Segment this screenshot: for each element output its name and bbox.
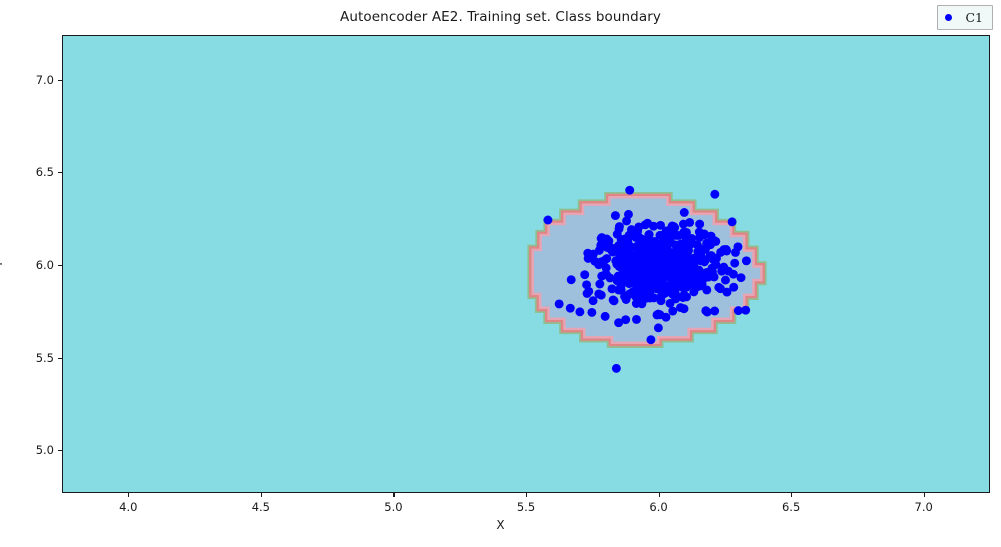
scatter-point	[664, 239, 673, 248]
x-tick-mark	[128, 493, 129, 497]
scatter-point	[555, 300, 564, 309]
legend[interactable]: C1	[937, 5, 993, 30]
scatter-point	[621, 315, 630, 324]
plot-area	[62, 35, 990, 493]
scatter-point	[580, 270, 589, 279]
scatter-point	[696, 250, 705, 259]
scatter-point	[722, 245, 731, 254]
scatter-point	[567, 275, 576, 284]
scatter-point	[636, 244, 645, 253]
scatter-point	[686, 279, 695, 288]
scatter-point	[669, 277, 678, 286]
legend-label-c1: C1	[965, 10, 983, 25]
x-tick-label: 5.5	[506, 500, 546, 514]
scatter-point	[617, 241, 626, 250]
scatter-point	[625, 186, 634, 195]
x-tick-mark	[393, 493, 394, 497]
scatter-point	[722, 288, 731, 297]
scatter-point	[635, 261, 644, 270]
x-axis-label: X	[0, 518, 1001, 532]
scatter-point	[669, 222, 678, 231]
scatter-point	[742, 256, 751, 265]
scatter-point	[737, 273, 746, 282]
scatter-point	[697, 271, 706, 280]
scatter-point	[625, 290, 634, 299]
scatter-point	[702, 285, 711, 294]
scatter-point	[730, 259, 739, 268]
y-tick-label: 7.0	[20, 73, 54, 87]
scatter-point	[595, 280, 604, 289]
scatter-point	[701, 306, 710, 315]
legend-marker-c1-icon	[945, 14, 952, 21]
x-tick-label: 4.5	[241, 500, 281, 514]
scatter-point	[603, 243, 612, 252]
x-tick-label: 4.0	[108, 500, 148, 514]
scatter-point	[601, 312, 610, 321]
scatter-point	[612, 364, 621, 373]
scatter-point	[658, 276, 667, 285]
figure-canvas: Autoencoder AE2. Training set. Class bou…	[0, 0, 1001, 547]
scatter-point	[617, 259, 626, 268]
scatter-point	[680, 290, 689, 299]
scatter-point	[686, 240, 695, 249]
scatter-point	[630, 273, 639, 282]
scatter-point	[721, 276, 730, 285]
scatter-point	[611, 211, 620, 220]
scatter-point	[590, 257, 599, 266]
scatter-point	[583, 249, 592, 258]
scatter-point	[653, 310, 662, 319]
scatter-point	[712, 254, 721, 263]
scatter-point	[671, 255, 680, 264]
x-tick-label: 6.0	[639, 500, 679, 514]
x-tick-label: 6.5	[771, 500, 811, 514]
scatter-point	[714, 283, 723, 292]
scatter-point	[650, 248, 659, 257]
scatter-point	[695, 233, 704, 242]
scatter-point	[621, 273, 630, 282]
scatter-point	[662, 313, 671, 322]
y-tick-label: 5.0	[20, 443, 54, 457]
scatter-point	[711, 237, 720, 246]
scatter-point	[733, 242, 742, 251]
x-tick-label: 5.0	[373, 500, 413, 514]
scatter-point	[666, 299, 675, 308]
scatter-point	[668, 307, 677, 316]
scatter-point	[641, 220, 650, 229]
scatter-point	[622, 216, 631, 225]
scatter-point	[682, 232, 691, 241]
y-tick-label: 5.5	[20, 351, 54, 365]
plot-svg	[63, 36, 989, 492]
scatter-point	[689, 287, 698, 296]
x-tick-mark	[261, 493, 262, 497]
scatter-point	[646, 335, 655, 344]
scatter-point	[610, 296, 619, 305]
scatter-point	[654, 323, 663, 332]
scatter-point	[645, 230, 654, 239]
scatter-point	[587, 308, 596, 317]
scatter-point	[633, 226, 642, 235]
scatter-point	[543, 216, 552, 225]
scatter-point	[710, 272, 719, 281]
scatter-point	[724, 267, 733, 276]
scatter-point	[575, 307, 584, 316]
scatter-point	[643, 256, 652, 265]
scatter-point	[680, 304, 689, 313]
scatter-point	[661, 229, 670, 238]
scatter-point	[589, 296, 598, 305]
scatter-point	[690, 266, 699, 275]
scatter-point	[710, 307, 719, 316]
y-tick-label: 6.5	[20, 165, 54, 179]
scatter-point	[690, 257, 699, 266]
y-axis-label: Y	[0, 244, 5, 284]
scatter-point	[676, 240, 685, 249]
scatter-point	[679, 220, 688, 229]
scatter-point	[597, 291, 606, 300]
scatter-point	[653, 267, 662, 276]
x-tick-mark	[924, 493, 925, 497]
scatter-point	[602, 263, 611, 272]
scatter-point	[674, 231, 683, 240]
scatter-point	[617, 286, 626, 295]
y-tick-label: 6.0	[20, 258, 54, 272]
scatter-point	[566, 304, 575, 313]
scatter-point	[597, 234, 606, 243]
scatter-point	[627, 254, 636, 263]
scatter-point	[677, 267, 686, 276]
scatter-point	[659, 290, 668, 299]
x-tick-mark	[526, 493, 527, 497]
scatter-point	[710, 190, 719, 199]
scatter-point	[615, 224, 624, 233]
scatter-point	[583, 289, 592, 298]
scatter-point	[663, 267, 672, 276]
scatter-point	[680, 208, 689, 217]
scatter-point	[728, 217, 737, 226]
scatter-point	[649, 222, 658, 231]
scatter-point	[632, 315, 641, 324]
x-tick-mark	[659, 493, 660, 497]
scatter-point	[695, 220, 704, 229]
x-tick-mark	[791, 493, 792, 497]
page-title: Autoencoder AE2. Training set. Class bou…	[0, 9, 1001, 25]
scatter-point	[741, 306, 750, 315]
x-tick-label: 7.0	[904, 500, 944, 514]
scatter-point	[649, 293, 658, 302]
scatter-point	[641, 273, 650, 282]
